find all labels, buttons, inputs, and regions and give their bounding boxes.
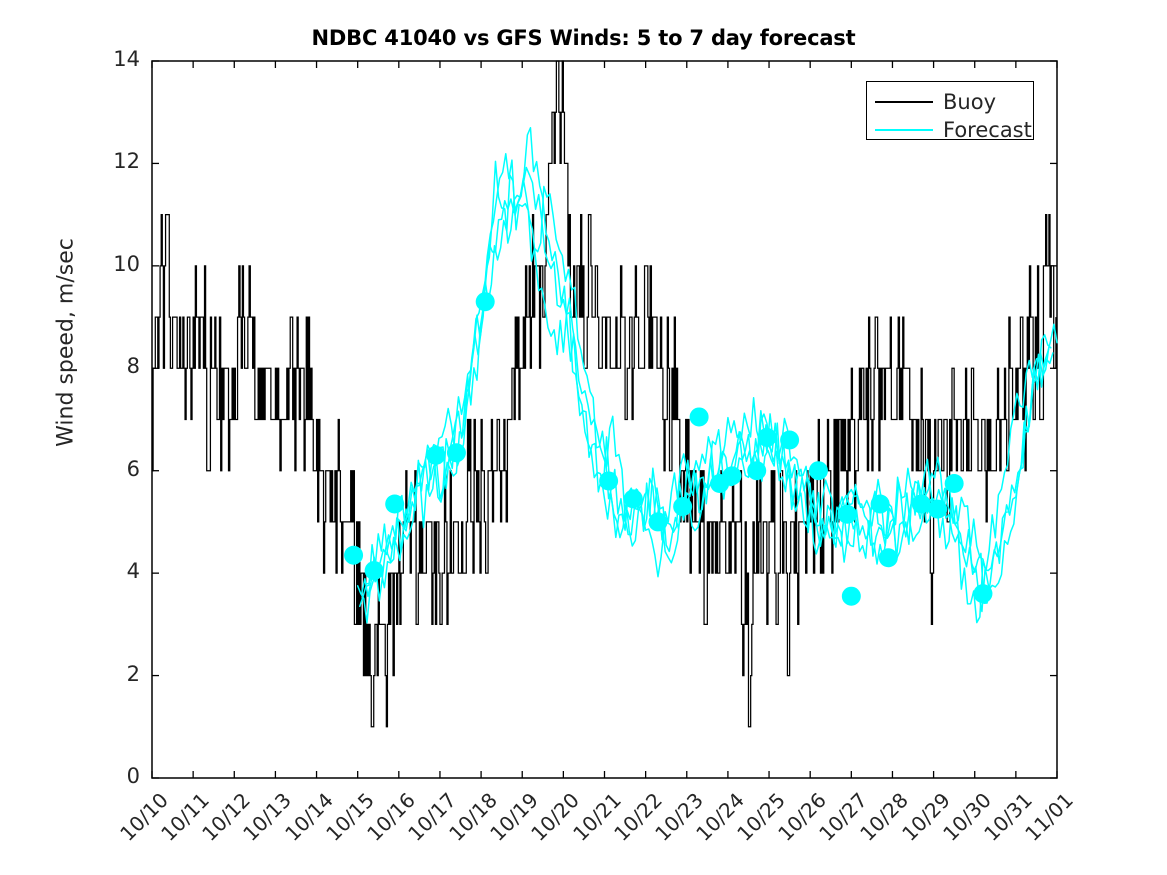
- legend-swatch-buoy: [875, 101, 933, 103]
- y-tick-label: 4: [80, 559, 140, 583]
- forecast-marker: [476, 292, 495, 311]
- legend-label: Forecast: [943, 118, 1032, 142]
- y-tick-label: 10: [80, 252, 140, 276]
- forecast-marker: [842, 587, 861, 606]
- y-tick-label: 14: [80, 47, 140, 71]
- forecast-marker: [447, 443, 466, 462]
- forecast-marker: [780, 430, 799, 449]
- forecast-marker: [648, 512, 667, 531]
- forecast-marker: [690, 407, 709, 426]
- forecast-marker: [757, 428, 776, 447]
- legend-entry-buoy: Buoy: [875, 90, 996, 114]
- forecast-marker: [973, 584, 992, 603]
- forecast-marker: [809, 461, 828, 480]
- forecast-marker: [673, 497, 692, 516]
- figure-container: NDBC 41040 vs GFS Winds: 5 to 7 day fore…: [0, 0, 1167, 875]
- forecast-marker: [723, 466, 742, 485]
- legend-label: Buoy: [943, 90, 996, 114]
- forecast-trace: [360, 161, 1051, 622]
- y-tick-label: 12: [80, 149, 140, 173]
- forecast-marker: [599, 471, 618, 490]
- forecast-marker: [385, 495, 404, 514]
- forecast-marker: [912, 495, 931, 514]
- forecast-marker: [747, 461, 766, 480]
- forecast-marker: [871, 495, 890, 514]
- forecast-marker: [945, 474, 964, 493]
- forecast-marker: [426, 446, 445, 465]
- legend: BuoyForecast: [866, 81, 1034, 140]
- forecast-marker: [879, 548, 898, 567]
- y-tick-label: 2: [80, 662, 140, 686]
- forecast-marker: [365, 561, 384, 580]
- y-tick-label: 6: [80, 457, 140, 481]
- y-tick-label: 8: [80, 354, 140, 378]
- forecast-marker: [928, 500, 947, 519]
- y-tick-label: 0: [80, 764, 140, 788]
- legend-entry-forecast: Forecast: [875, 118, 1032, 142]
- forecast-marker: [624, 489, 643, 508]
- forecast-marker: [838, 505, 857, 524]
- legend-swatch-forecast: [875, 129, 933, 131]
- series-buoy: [152, 61, 1056, 727]
- forecast-marker: [344, 546, 363, 565]
